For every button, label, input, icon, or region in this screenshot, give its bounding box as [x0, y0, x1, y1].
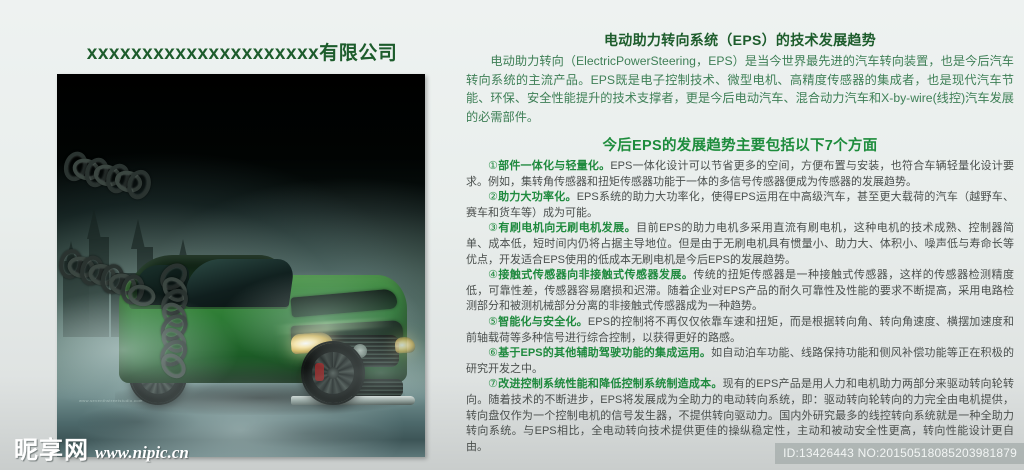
trend-item-3: ③有刷电机向无刷电机发展。目前EPS的助力电机多采用直流有刷电机，这种电机的技术…	[466, 221, 1014, 268]
trend-item-6-lead: 基于EPS的其他辅助驾驶功能的集成运用。	[498, 347, 711, 359]
trend-item-5-lead: 智能化与安全化。	[498, 316, 588, 328]
trend-item-4: ④接触式传感器向非接触式传感器发展。传统的扭矩传感器是一种接触式传感器，这样的传…	[466, 268, 1014, 315]
trend-item-1: ①部件一体化与轻量化。EPS一体化设计可以节省更多的空间，方便布置与安装，也符合…	[466, 159, 1014, 190]
article-intro: 电动助力转向（ElectricPowerSteering，EPS）是当今世界最先…	[466, 52, 1014, 126]
trend-item-5-num: ⑤	[488, 316, 498, 328]
brochure-page: xxxxxxxxxxxxxxxxxxxxx有限公司	[0, 0, 1024, 470]
trend-item-6: ⑥基于EPS的其他辅助驾驶功能的集成运用。如自动泊车功能、线路保持功能和侧风补偿…	[466, 346, 1014, 377]
watermark-url: www.nipic.cn	[95, 444, 189, 462]
trend-item-3-lead: 有刷电机向无刷电机发展。	[498, 222, 636, 234]
article-title: 电动助力转向系统（EPS）的技术发展趋势	[466, 30, 1014, 50]
trend-item-6-num: ⑥	[488, 347, 498, 359]
trend-item-2-lead: 助力大功率化。	[498, 191, 577, 203]
site-watermark: 昵享网 www.nipic.cn	[14, 438, 189, 462]
trend-item-1-num: ①	[488, 160, 498, 172]
left-panel: xxxxxxxxxxxxxxxxxxxxx有限公司	[0, 0, 455, 470]
article-column: 电动助力转向系统（EPS）的技术发展趋势 电动助力转向（ElectricPowe…	[466, 30, 1014, 460]
trend-item-3-num: ③	[488, 222, 498, 234]
trend-item-4-num: ④	[488, 269, 498, 281]
trend-item-2-num: ②	[488, 191, 498, 203]
trend-item-4-lead: 接触式传感器向非接触式传感器发展。	[498, 269, 693, 281]
trend-item-2: ②助力大功率化。EPS系统的助力大功率化，使得EPS运用在中高级汽车，甚至更大载…	[466, 190, 1014, 221]
trend-item-1-lead: 部件一体化与轻量化。	[498, 160, 610, 172]
watermark-logo: 昵享网	[14, 438, 89, 462]
company-title: xxxxxxxxxxxxxxxxxxxxx有限公司	[57, 42, 427, 66]
trend-item-5: ⑤智能化与安全化。EPS的控制将不再仅仅依靠车速和扭矩，而是根据转向角、转向角速…	[466, 315, 1014, 346]
id-watermark: ID:13426443 NO:20150518085203981879	[775, 443, 1024, 464]
photo-credit-text: www.seventhstreetstudio.com	[79, 398, 143, 403]
trend-item-7-lead: 改进控制系统性能和降低控制系统制造成本。	[498, 378, 723, 390]
car-photo: www.seventhstreetstudio.com	[57, 74, 425, 457]
article-subtitle: 今后EPS的发展趋势主要包括以下7个方面	[466, 136, 1014, 156]
trend-item-7-num: ⑦	[488, 378, 498, 390]
